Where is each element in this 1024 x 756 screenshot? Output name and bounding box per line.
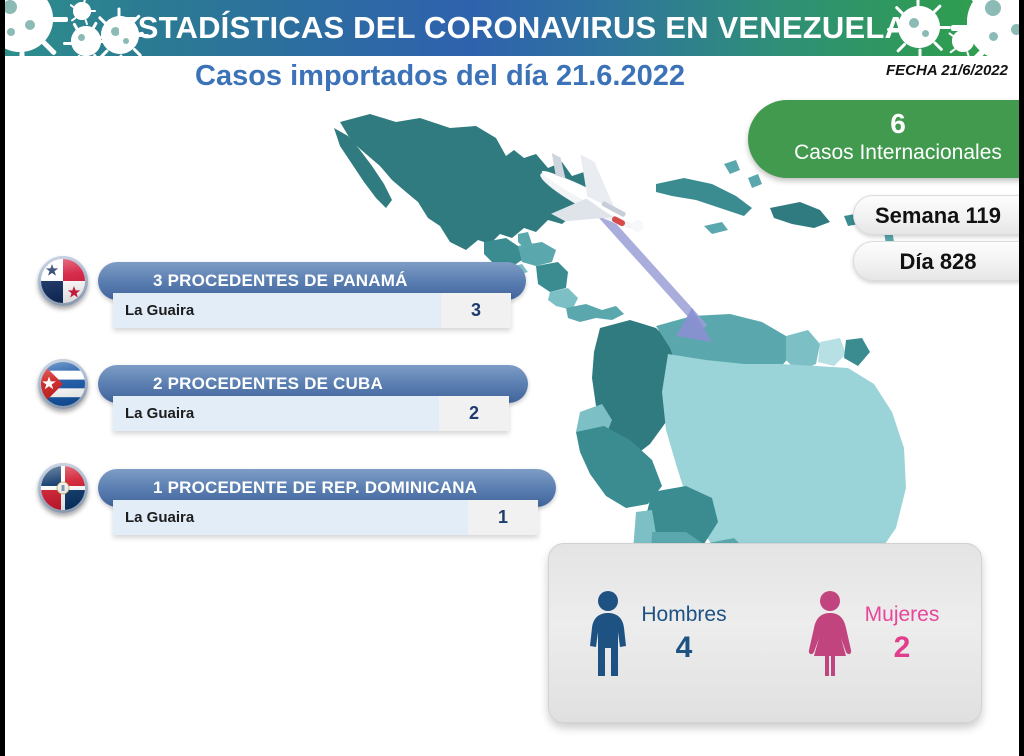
map-country-hispaniola	[770, 202, 830, 228]
gender-label-male: Hombres	[641, 600, 726, 630]
international-cases-count: 6	[748, 100, 1024, 140]
international-cases-label: Casos Internacionales	[748, 140, 1024, 166]
cuba-flag-icon	[38, 359, 88, 409]
location-name: La Guaira	[113, 293, 441, 328]
map-country-panama	[566, 304, 624, 322]
gender-count-female: 2	[865, 630, 940, 666]
dominican-republic-flag-icon	[38, 463, 88, 513]
international-cases-card: 6 Casos Internacionales	[748, 100, 1024, 178]
location-name: La Guaira	[113, 396, 439, 431]
date-label: FECHA 21/6/2022	[886, 62, 1008, 79]
gender-block-female: Mujeres 2	[765, 590, 981, 676]
map-country-cuba	[656, 178, 752, 216]
location-name: La Guaira	[113, 500, 468, 535]
location-value: 2	[439, 396, 509, 431]
gender-label-female: Mujeres	[865, 600, 940, 630]
header-banner: ESTADÍSTICAS DEL CORONAVIRUS EN VENEZUEL…	[5, 0, 1019, 56]
gender-block-male: Hombres 4	[549, 590, 765, 676]
map-country-jamaica	[704, 222, 728, 234]
table-row: La Guaira 3	[113, 293, 511, 328]
panama-flag-icon	[38, 256, 88, 306]
male-figure-icon	[587, 590, 629, 676]
gender-count-male: 4	[641, 630, 726, 666]
gender-breakdown-panel: Hombres 4 Mujeres 2	[548, 543, 982, 723]
page-title: ESTADÍSTICAS DEL CORONAVIRUS EN VENEZUEL…	[5, 0, 1019, 56]
location-value: 3	[441, 293, 511, 328]
female-figure-icon	[807, 590, 853, 676]
table-row: La Guaira 1	[113, 500, 538, 535]
subtitle: Casos importados del día 21.6.2022	[0, 60, 880, 93]
location-value: 1	[468, 500, 538, 535]
map-country-nicaragua	[536, 262, 568, 292]
left-black-rail	[0, 0, 5, 756]
week-badge: Semana 119	[853, 195, 1024, 235]
table-row: La Guaira 2	[113, 396, 509, 431]
day-badge: Día 828	[853, 241, 1024, 281]
infographic-canvas: ESTADÍSTICAS DEL CORONAVIRUS EN VENEZUEL…	[0, 0, 1024, 756]
map-country-french-guiana	[844, 338, 870, 366]
map-country-suriname	[818, 338, 846, 366]
map-country-honduras	[518, 242, 556, 266]
right-black-rail	[1019, 0, 1024, 756]
